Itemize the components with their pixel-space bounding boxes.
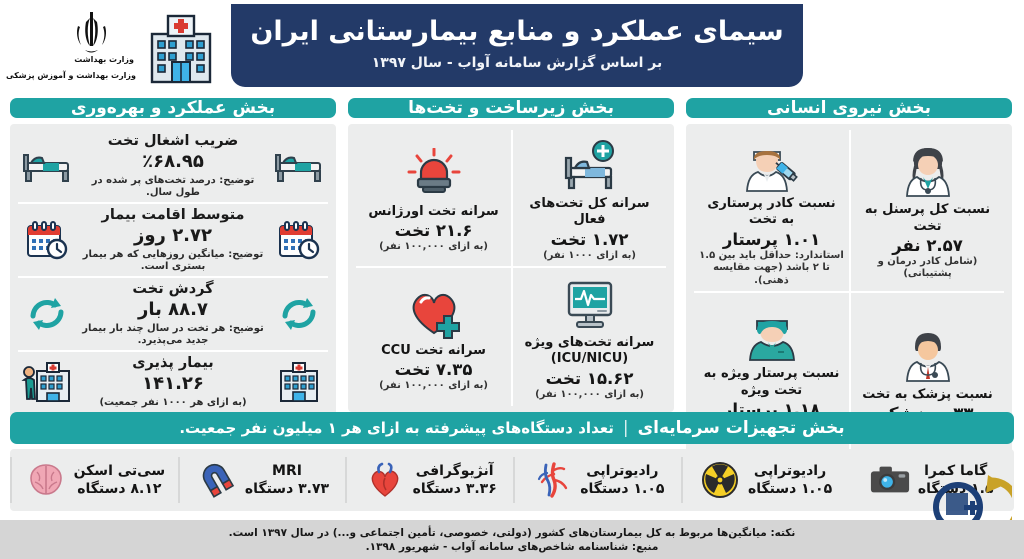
metric-note: توضیح: درصد تخت‌های پر شده در طول سال.	[78, 175, 268, 199]
bed-turnover-icon-left	[272, 294, 326, 334]
human-resources-grid: نسبت کل پرسنل به تخت ۲.۵۷ نفر (شامل کادر…	[694, 130, 1004, 456]
equipment-subtitle: تعداد دستگاه‌های پیشرفته به ازای هر ۱ می…	[179, 419, 614, 437]
radiation-icon	[699, 460, 741, 500]
equipment-name: آنژیوگرافی	[413, 462, 497, 480]
metric-emergency-beds: سرانه تخت اورژانس ۲۱.۶ تخت (به ازای ۱۰۰,…	[356, 130, 511, 268]
iran-emblem-logo: وزارت بهداشت وزارت بهداشت و آموزش پزشکی	[44, 8, 136, 86]
metric-icu-nicu-beds: سرانه تخت‌های ویژه (ICU/NICU) ۱۵.۶۲ تخت …	[511, 268, 666, 406]
footer-bar: نکته: میانگین‌ها مربوط به کل بیمارستان‌ه…	[0, 520, 1024, 559]
logo-group: وزارت بهداشت وزارت بهداشت و آموزش پزشکی	[44, 8, 218, 86]
hospital-admission-icon	[20, 361, 74, 403]
calendar-clock-icon	[20, 220, 74, 260]
icu-monitor-icon	[561, 273, 619, 331]
equipment-item-mri: MRI ۳.۷۳ دستگاه	[178, 457, 346, 503]
page-subtitle: بر اساس گزارش سامانه آواب - سال ۱۳۹۷	[372, 55, 663, 71]
metric-average-stay: متوسط اقامت بیمار ۲.۷۲ روز توضیح: میانگی…	[18, 204, 328, 278]
equipment-title-bar: بخش تجهیزات سرمایه‌ای | تعداد دستگاه‌های…	[10, 412, 1014, 444]
equipment-title: بخش تجهیزات سرمایه‌ای	[638, 418, 845, 438]
metric-staff-per-bed: نسبت کل پرسنل به تخت ۲.۵۷ نفر (شامل کادر…	[849, 130, 1004, 293]
metric-text: ضریب اشغال تخت ٪۶۸.۹۵ توضیح: درصد تخت‌ها…	[78, 133, 268, 199]
equipment-item-angiography: آنژیوگرافی ۳.۳۶ دستگاه	[345, 457, 513, 503]
heart-cross-icon	[405, 281, 463, 339]
equipment-items-row: سی‌تی اسکن ۸.۱۲ دستگاه MRI	[10, 449, 1014, 511]
vessel-radio-icon	[531, 460, 573, 500]
metric-note: (شامل کادر درمان و پشتیبانی)	[856, 256, 999, 281]
equipment-text: گاما کمرا ۱.۵ دستگاه	[918, 462, 994, 498]
bed-turnover-icon	[20, 294, 74, 334]
calendar-clock-icon-left	[272, 220, 326, 260]
infrastructure-grid: سرانه کل تخت‌های فعال ۱.۷۲ تخت (به ازای …	[356, 130, 666, 406]
metric-value: ۱۴۱.۲۶	[78, 373, 268, 395]
metric-label: سرانه تخت‌های ویژه (ICU/NICU)	[518, 335, 661, 368]
equipment-count: ۱.۰۵ دستگاه	[748, 480, 832, 498]
footer-note: نکته: میانگین‌ها مربوط به کل بیمارستان‌ه…	[229, 527, 796, 539]
equipment-text: رادیوتراپی ۱.۰۵ دستگاه	[580, 462, 664, 498]
metric-note: استاندارد: حداقل باید بین ۱.۵ تا ۲ باشد …	[699, 250, 844, 288]
metric-bed-turnover: گردش تخت ۸۸.۷ بار توضیح: هر تخت در سال چ…	[18, 278, 328, 352]
metric-label: نسبت پرستار ویژه به تخت ویژه	[699, 366, 844, 399]
metric-ccu-beds: سرانه تخت CCU ۷.۳۵ تخت (به ازای ۱۰۰,۰۰۰ …	[356, 268, 511, 406]
panel-row: بخش عملکرد و بهره‌وری	[10, 98, 1014, 398]
metric-label: بیمار پذیری	[78, 355, 268, 372]
title-plate: سیمای عملکرد و منابع بیمارستانی ایران بر…	[231, 4, 803, 87]
panel-human-resources: بخش نیروی انسانی	[686, 98, 1012, 398]
equipment-count: ۱.۰۵ دستگاه	[580, 480, 664, 498]
equipment-name: گاما کمرا	[918, 462, 994, 480]
metric-note: (به ازای ۱۰۰,۰۰۰ نفر)	[379, 380, 488, 393]
metric-value: ۱.۰۱ پرستار	[723, 230, 820, 249]
panel-performance-body: ضریب اشغال تخت ٪۶۸.۹۵ توضیح: درصد تخت‌ها…	[10, 124, 336, 418]
equipment-count: ۳.۷۳ دستگاه	[245, 480, 329, 498]
metric-label: ضریب اشغال تخت	[78, 133, 268, 150]
equipment-item-radiotherapy: رادیوتراپی ۱.۰۵ دستگاه	[681, 457, 849, 503]
gamma-camera-icon	[869, 460, 911, 500]
metric-label: نسبت پزشک به تخت	[862, 387, 993, 403]
equipment-name: سی‌تی اسکن	[74, 462, 166, 480]
equipment-text: MRI ۳.۷۳ دستگاه	[245, 462, 329, 498]
female-doctor-icon	[899, 140, 957, 198]
metric-label: نسبت کل پرسنل به تخت	[856, 202, 999, 235]
hospital-bed-icon	[20, 149, 74, 183]
metric-value: ۷.۳۵ تخت	[395, 360, 473, 379]
metric-note: توضیح: هر تخت در سال چند بار بیمار جدید …	[78, 323, 268, 347]
equipment-section: بخش تجهیزات سرمایه‌ای | تعداد دستگاه‌های…	[10, 412, 1014, 511]
panel-performance-title: بخش عملکرد و بهره‌وری	[10, 98, 336, 118]
equipment-item-gamma-camera: گاما کمرا ۱.۵ دستگاه	[848, 457, 1014, 503]
magnet-mri-icon	[196, 460, 238, 500]
metric-label: گردش تخت	[78, 281, 268, 298]
infographic-page: وزارت بهداشت وزارت بهداشت و آموزش پزشکی	[0, 0, 1024, 559]
equipment-text: سی‌تی اسکن ۸.۱۲ دستگاه	[74, 462, 166, 498]
hospital-building-icon	[144, 8, 218, 86]
metric-admissions: بیمار پذیری ۱۴۱.۲۶ (به ازای هر ۱۰۰۰ نفر …	[18, 352, 328, 412]
nurse-syringe-icon	[741, 134, 803, 192]
metric-text: متوسط اقامت بیمار ۲.۷۲ روز توضیح: میانگی…	[78, 207, 268, 273]
metric-label: سرانه تخت اورژانس	[368, 204, 498, 220]
hospital-bed-icon-left	[272, 149, 326, 183]
panel-performance: بخش عملکرد و بهره‌وری	[10, 98, 336, 398]
emergency-siren-icon	[405, 142, 463, 200]
metric-note: (به ازای ۱۰۰,۰۰۰ نفر)	[535, 389, 644, 402]
equipment-count: ۸.۱۲ دستگاه	[74, 480, 166, 498]
heart-angio-icon	[364, 460, 406, 500]
hospital-building-icon-left	[272, 361, 326, 403]
equipment-item-ct-scan: سی‌تی اسکن ۸.۱۲ دستگاه	[10, 457, 178, 503]
icu-nurse-icon	[743, 304, 801, 362]
metric-label: سرانه کل تخت‌های فعال	[518, 196, 661, 229]
metric-text: گردش تخت ۸۸.۷ بار توضیح: هر تخت در سال چ…	[78, 281, 268, 347]
equipment-name: MRI	[245, 462, 329, 480]
equipment-separator: |	[623, 418, 629, 438]
metric-bed-occupancy: ضریب اشغال تخت ٪۶۸.۹۵ توضیح: درصد تخت‌ها…	[18, 130, 328, 204]
metric-text: بیمار پذیری ۱۴۱.۲۶ (به ازای هر ۱۰۰۰ نفر …	[78, 355, 268, 409]
panel-human-resources-title: بخش نیروی انسانی	[686, 98, 1012, 118]
equipment-item-radiotherapy-vessel: رادیوتراپی ۱.۰۵ دستگاه	[513, 457, 681, 503]
male-doctor-icon	[899, 325, 957, 383]
metric-value: ۲.۵۷ نفر	[892, 236, 963, 255]
metric-value: ۱.۷۲ تخت	[551, 230, 629, 249]
equipment-name: رادیوتراپی	[748, 462, 832, 480]
header-bar: وزارت بهداشت وزارت بهداشت و آموزش پزشکی	[0, 0, 1024, 92]
footer-source: منبع: شناسنامه شاخص‌های سامانه آواب - شه…	[366, 541, 659, 553]
panel-infrastructure-title: بخش زیرساخت و تخت‌ها	[348, 98, 674, 118]
metric-note: توضیح: میانگین روزهایی که هر بیمار بستری…	[78, 249, 268, 273]
metric-value: ۸۸.۷ بار	[78, 299, 268, 321]
ministry-line-2: وزارت بهداشت و آموزش پزشکی	[6, 71, 136, 80]
metric-note: (به ازای ۱۰۰۰ نفر)	[543, 250, 636, 263]
metric-note: (به ازای ۱۰۰,۰۰۰ نفر)	[379, 241, 488, 254]
equipment-text: رادیوتراپی ۱.۰۵ دستگاه	[748, 462, 832, 498]
metric-label: نسبت کادر پرستاری به تخت	[699, 196, 844, 229]
hospital-bed-cross-icon	[559, 134, 621, 192]
metric-value: ۱۵.۶۲ تخت	[546, 369, 634, 388]
metric-note: (به ازای هر ۱۰۰۰ نفر جمعیت)	[78, 397, 268, 409]
metric-total-active-beds: سرانه کل تخت‌های فعال ۱.۷۲ تخت (به ازای …	[511, 130, 666, 268]
ministry-line-1: وزارت بهداشت	[74, 55, 134, 64]
equipment-name: رادیوتراپی	[580, 462, 664, 480]
metric-nurse-per-bed: نسبت کادر پرستاری به تخت ۱.۰۱ پرستار است…	[694, 130, 849, 293]
equipment-text: آنژیوگرافی ۳.۳۶ دستگاه	[413, 462, 497, 498]
panel-infrastructure-body: سرانه کل تخت‌های فعال ۱.۷۲ تخت (به ازای …	[348, 124, 674, 412]
equipment-count: ۳.۳۶ دستگاه	[413, 480, 497, 498]
brain-ct-icon	[25, 460, 67, 500]
metric-value: ۲.۷۲ روز	[78, 225, 268, 247]
equipment-count: ۱.۵ دستگاه	[918, 480, 994, 498]
panel-infrastructure: بخش زیرساخت و تخت‌ها	[348, 98, 674, 398]
metric-value: ٪۶۸.۹۵	[78, 151, 268, 173]
metric-value: ۲۱.۶ تخت	[395, 221, 473, 240]
page-title: سیمای عملکرد و منابع بیمارستانی ایران	[250, 16, 783, 47]
metric-label: متوسط اقامت بیمار	[78, 207, 268, 224]
metric-label: سرانه تخت CCU	[381, 343, 486, 359]
